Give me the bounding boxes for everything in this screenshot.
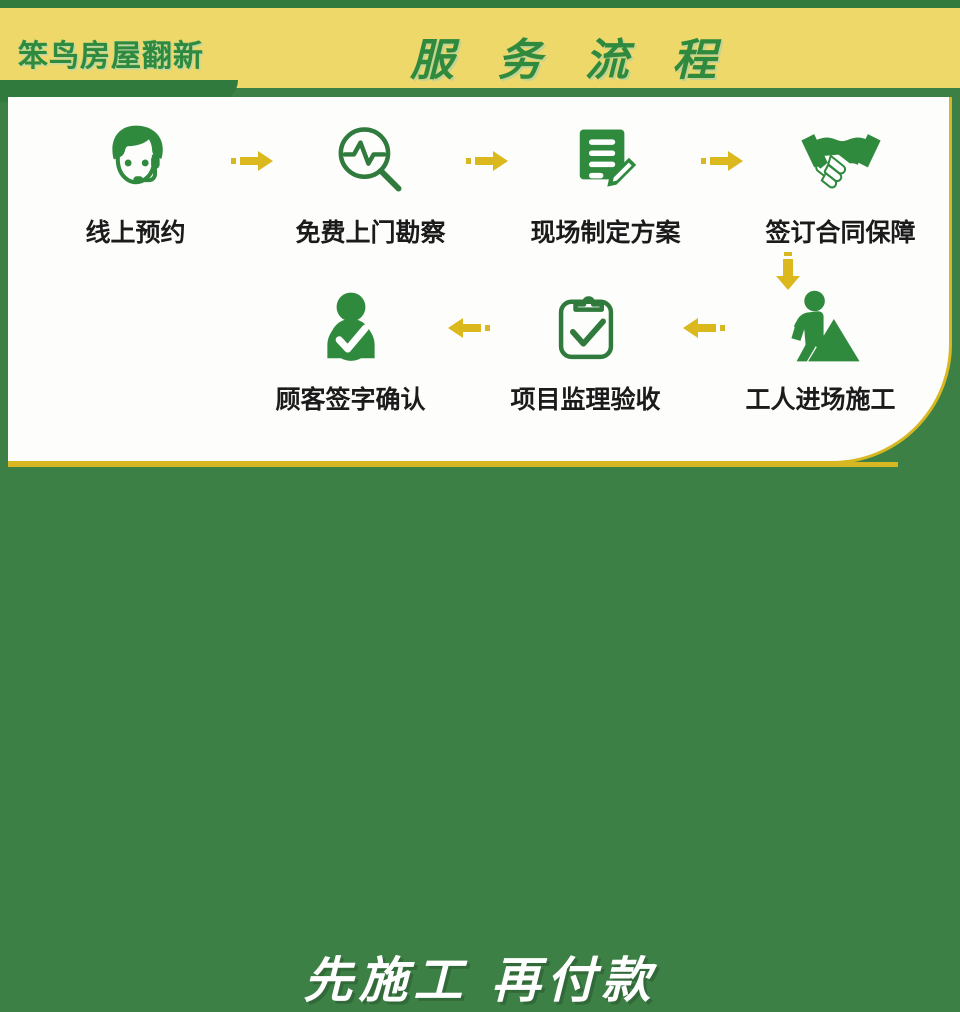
arrow-left-icon xyxy=(438,282,498,374)
step-customer-signoff[interactable]: 顾客签字确认 xyxy=(263,282,438,416)
step-label: 免费上门勘察 xyxy=(295,213,445,249)
clipboard-check-icon xyxy=(544,282,628,374)
handshake-icon xyxy=(795,115,887,207)
construction-worker-icon xyxy=(776,282,866,374)
step-free-site-survey[interactable]: 免费上门勘察 xyxy=(283,115,458,249)
header-top-stripe xyxy=(0,0,960,8)
arrow-left-icon xyxy=(673,282,733,374)
arrow-right-icon xyxy=(223,115,283,207)
slogan-text: 先施工 再付款 xyxy=(0,941,960,1012)
step-label: 线上预约 xyxy=(85,213,185,249)
flow-row-1: 线上预约 免费上门勘察 xyxy=(48,115,928,249)
step-label: 现场制定方案 xyxy=(530,213,680,249)
service-process-poster: 笨鸟房屋翻新 服 务 流 程 线上预约 xyxy=(0,0,960,540)
document-pencil-icon xyxy=(564,115,648,207)
brand-logo: 笨鸟房屋翻新 xyxy=(18,31,258,75)
arrow-right-icon xyxy=(458,115,518,207)
headset-operator-icon xyxy=(94,115,178,207)
page-title: 服 务 流 程 xyxy=(360,24,780,88)
bottom-banner: 先施工 再付款 xyxy=(0,467,960,540)
person-check-icon xyxy=(309,282,393,374)
step-onsite-plan[interactable]: 现场制定方案 xyxy=(518,115,693,249)
step-label: 项目监理验收 xyxy=(510,380,660,416)
magnifier-pulse-icon xyxy=(329,115,413,207)
step-label: 签订合同保障 xyxy=(765,213,915,249)
step-sign-contract[interactable]: 签订合同保障 xyxy=(753,115,928,249)
arrow-right-icon xyxy=(693,115,753,207)
step-label: 工人进场施工 xyxy=(745,380,895,416)
header-band: 笨鸟房屋翻新 服 务 流 程 xyxy=(0,8,960,88)
step-online-booking[interactable]: 线上预约 xyxy=(48,115,223,249)
step-workers-construction[interactable]: 工人进场施工 xyxy=(733,282,908,416)
step-label: 顾客签字确认 xyxy=(275,380,425,416)
step-supervision-acceptance[interactable]: 项目监理验收 xyxy=(498,282,673,416)
flow-card: 线上预约 免费上门勘察 xyxy=(8,97,952,464)
flow-row-2: 顾客签字确认 项目监理验收 xyxy=(263,282,928,416)
